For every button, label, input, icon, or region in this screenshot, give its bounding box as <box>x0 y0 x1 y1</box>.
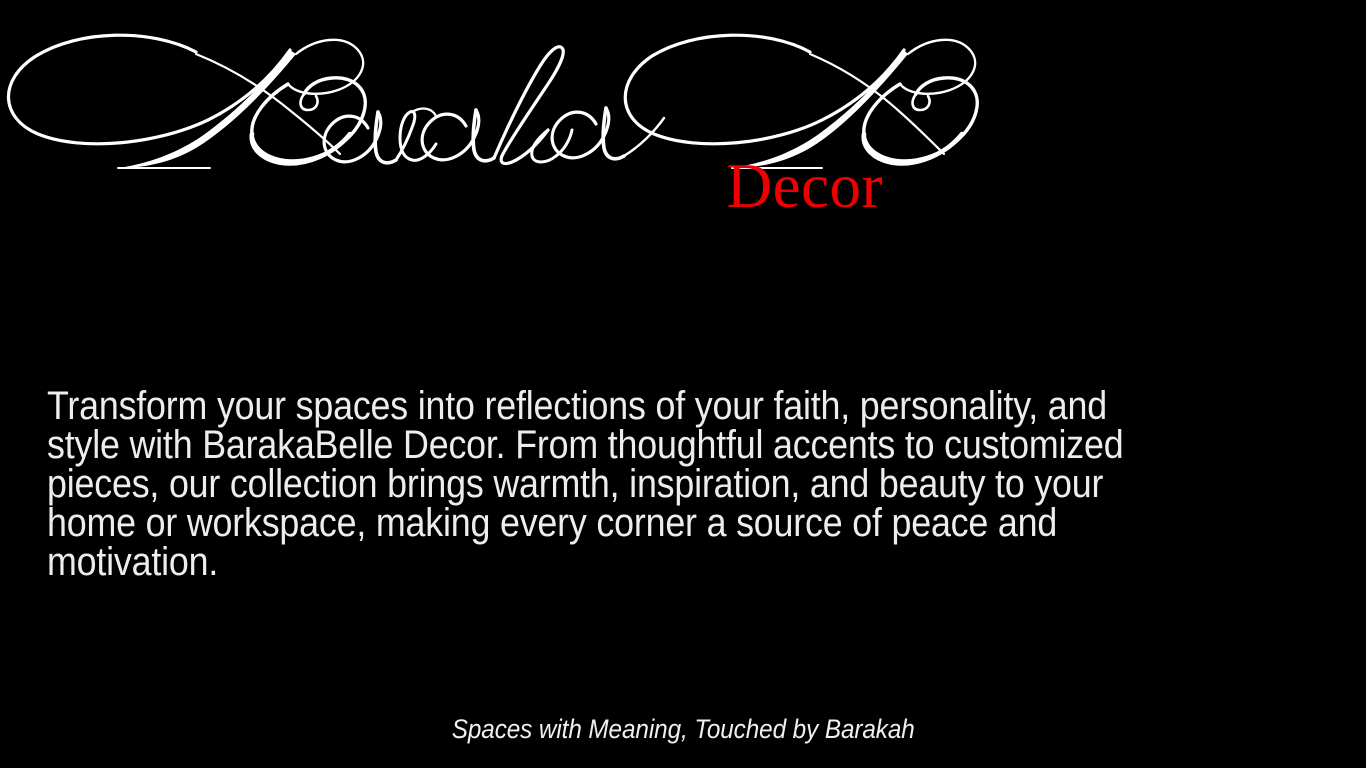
brand-lockup: BarakaBelle <box>0 0 1000 240</box>
tagline: Spaces with Meaning, Touched by Barakah <box>0 712 1366 746</box>
slide-canvas: BarakaBelle <box>0 0 1366 768</box>
brand-sub-label: Decor <box>0 155 883 218</box>
body-paragraph: Transform your spaces into reflections o… <box>47 387 1130 582</box>
tagline-text: Spaces with Meaning, Touched by Barakah <box>452 712 915 746</box>
